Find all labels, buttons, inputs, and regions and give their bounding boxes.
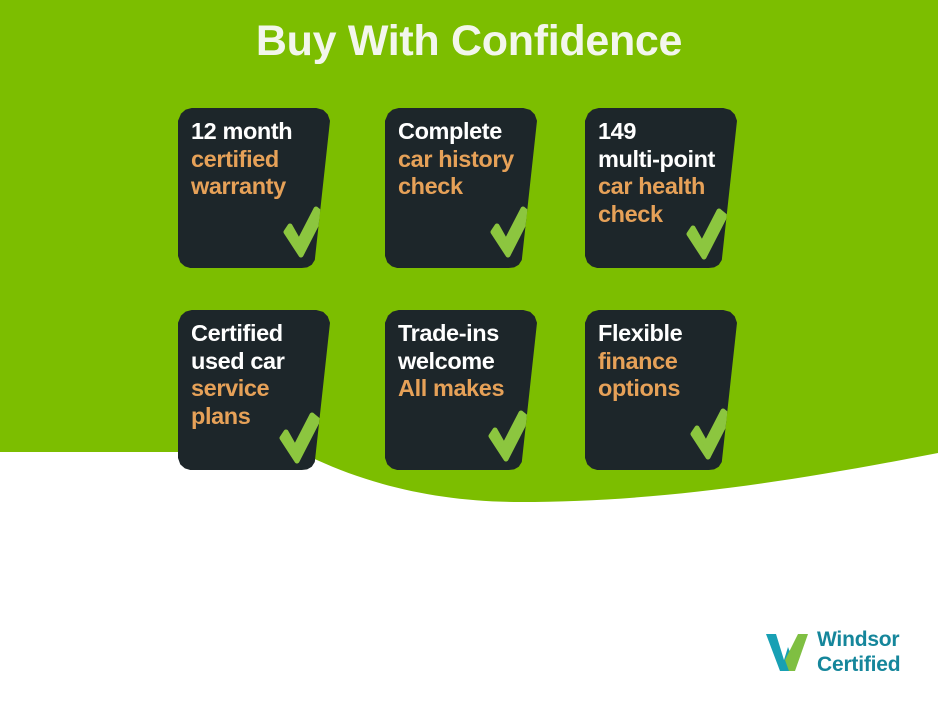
benefit-card-certified-used-car-service-plans[interactable]: Certified used car service plans — [178, 310, 330, 470]
windsor-w-icon — [763, 630, 811, 674]
card-line: Certified — [191, 320, 323, 348]
card-line: Complete — [398, 118, 530, 146]
card-line: check — [398, 173, 530, 201]
card-text: Complete car history check — [398, 118, 530, 201]
card-line: finance — [598, 348, 730, 376]
check-icon — [685, 208, 727, 260]
card-line: options — [598, 375, 730, 403]
card-line: 149 — [598, 118, 730, 146]
card-line: service — [191, 375, 323, 403]
benefit-card-trade-ins-welcome[interactable]: Trade-ins welcome All makes — [385, 310, 537, 470]
card-line: used car — [191, 348, 323, 376]
check-icon — [689, 408, 731, 460]
card-line: car history — [398, 146, 530, 174]
card-line: warranty — [191, 173, 323, 201]
card-line: multi-point — [598, 146, 730, 174]
check-icon — [282, 206, 324, 258]
page-title: Buy With Confidence — [0, 18, 938, 65]
card-line: 12 month — [191, 118, 323, 146]
benefit-card-grid: 12 month certified warranty Complete car… — [178, 108, 758, 473]
check-icon — [278, 412, 320, 464]
card-line: Trade-ins — [398, 320, 530, 348]
logo-line-2: Certified — [817, 653, 900, 678]
benefit-card-certified-warranty[interactable]: 12 month certified warranty — [178, 108, 330, 268]
benefit-card-flexible-finance-options[interactable]: Flexible finance options — [585, 310, 737, 470]
card-text: 12 month certified warranty — [191, 118, 323, 201]
check-icon — [487, 410, 529, 462]
card-line: certified — [191, 146, 323, 174]
slide-canvas: Buy With Confidence 12 month certified w… — [0, 0, 938, 704]
card-line: Flexible — [598, 320, 730, 348]
benefit-card-car-history-check[interactable]: Complete car history check — [385, 108, 537, 268]
card-line: car health — [598, 173, 730, 201]
logo-line-1: Windsor — [817, 628, 900, 653]
logo-wordmark: Windsor Certified — [817, 628, 900, 678]
benefit-card-multi-point-car-health-check[interactable]: 149 multi-point car health check — [585, 108, 737, 268]
brand-logo[interactable]: Windsor Certified — [763, 628, 929, 680]
card-line: welcome — [398, 348, 530, 376]
card-text: Trade-ins welcome All makes — [398, 320, 530, 403]
check-icon — [489, 206, 531, 258]
card-text: Flexible finance options — [598, 320, 730, 403]
card-line: All makes — [398, 375, 530, 403]
